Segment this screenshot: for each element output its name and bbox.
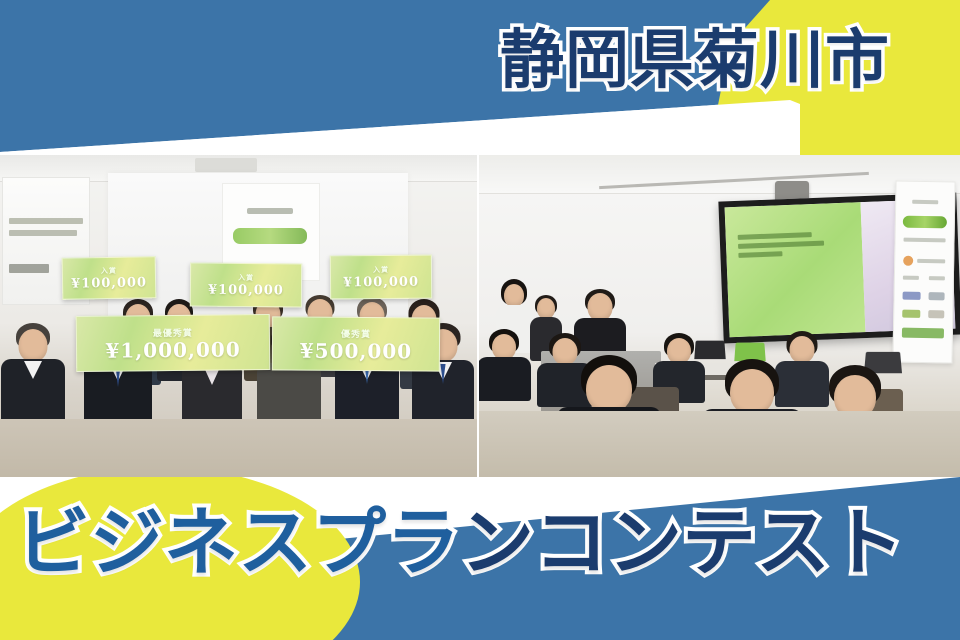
award-placard: 入賞 ¥100,000: [330, 255, 432, 300]
kocoroe-logo-icon: [233, 228, 307, 244]
page-title-bottom-segment-1: ビジネスプラ: [16, 500, 460, 586]
ceiling-vent-icon: [195, 158, 257, 172]
page-title-bottom-segment-2: ンコンテスト: [460, 500, 904, 586]
sponsor-banner-right: [892, 180, 955, 363]
floor-left: [0, 419, 477, 477]
award-placard: 入賞 ¥100,000: [62, 256, 157, 300]
award-ceremony-photo: 入賞 ¥100,000 入賞 ¥100,000 入賞 ¥100,000: [0, 155, 477, 477]
award-placard: 入賞 ¥100,000: [190, 263, 302, 308]
placard-amount: ¥100,000: [71, 276, 147, 290]
slide-text-lines: [738, 232, 825, 262]
placard-amount: ¥1,000,000: [105, 339, 240, 360]
award-placard-second-prize: 優秀賞 ¥500,000: [272, 316, 440, 371]
person-audience: [481, 329, 527, 401]
ceiling-right: [479, 155, 960, 194]
page-title-top: 静岡県菊川市: [500, 29, 940, 93]
placard-amount: ¥500,000: [300, 341, 413, 362]
placard-amount: ¥100,000: [208, 284, 284, 298]
award-placard-grand-prize: 最優秀賞 ¥1,000,000: [76, 314, 271, 372]
placard-title: 入賞: [373, 265, 389, 275]
page-title-bottom: ビジネスプランコンテスト: [16, 506, 956, 580]
kocoroe-logo-icon: [903, 216, 947, 229]
placard-title: 入賞: [101, 266, 117, 276]
floor-right: [479, 411, 960, 477]
seminar-room-photo: [477, 155, 960, 477]
photo-strip: 入賞 ¥100,000 入賞 ¥100,000 入賞 ¥100,000: [0, 155, 960, 477]
placard-title: 優秀賞: [341, 327, 371, 340]
slide-background: [725, 202, 865, 337]
placard-title: 最優秀賞: [153, 326, 193, 339]
poster-root: 静岡県菊川市: [0, 0, 960, 640]
placard-amount: ¥100,000: [343, 276, 419, 290]
placard-title: 入賞: [238, 273, 254, 283]
